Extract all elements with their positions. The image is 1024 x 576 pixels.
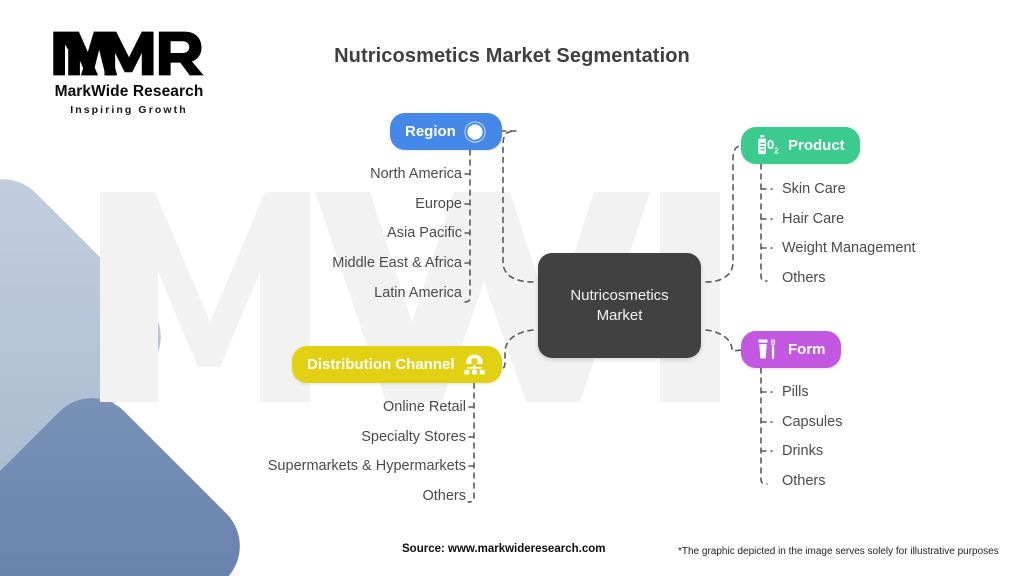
svg-text:0: 0 bbox=[767, 137, 774, 152]
disclaimer-text: *The graphic depicted in the image serve… bbox=[678, 546, 999, 557]
leaf-region-north-america[interactable]: North America bbox=[210, 167, 462, 182]
source-label[interactable]: Source: www.markwideresearch.com bbox=[402, 543, 605, 555]
leaf-region-europe[interactable]: Europe bbox=[210, 197, 462, 212]
branch-node-product[interactable]: 0 2 Product bbox=[741, 127, 860, 164]
leaf-distribution-specialty-stores[interactable]: Specialty Stores bbox=[180, 430, 466, 445]
branch-label-product: Product bbox=[788, 137, 845, 154]
branch-label-region: Region bbox=[405, 123, 456, 140]
leaf-product-skin-care[interactable]: Skin Care bbox=[782, 182, 846, 197]
leaf-distribution-others[interactable]: Others bbox=[180, 489, 466, 504]
branch-node-form[interactable]: Form bbox=[741, 331, 841, 368]
leaf-form-pills[interactable]: Pills bbox=[782, 385, 809, 400]
branch-node-distribution-channel[interactable]: Distribution Channel bbox=[292, 346, 502, 383]
center-node-nutricosmetics-market[interactable]: Nutricosmetics Market bbox=[538, 253, 701, 358]
center-node-line2: Market bbox=[570, 306, 668, 326]
tube-and-brush-icon bbox=[756, 337, 781, 362]
leaf-form-capsules[interactable]: Capsules bbox=[782, 415, 842, 430]
globe-icon bbox=[463, 120, 487, 144]
branch-label-form: Form bbox=[788, 341, 826, 358]
leaf-product-hair-care[interactable]: Hair Care bbox=[782, 212, 844, 227]
brand-name: MarkWide Research bbox=[34, 83, 224, 101]
leaf-region-asia-pacific[interactable]: Asia Pacific bbox=[210, 226, 462, 241]
leaf-region-middle-east-africa[interactable]: Middle East & Africa bbox=[210, 256, 462, 271]
distribution-network-icon bbox=[462, 352, 487, 377]
brand-logo: MarkWide Research Inspiring Growth bbox=[34, 24, 224, 116]
leaf-product-weight-management[interactable]: Weight Management bbox=[782, 241, 916, 256]
leaf-region-latin-america[interactable]: Latin America bbox=[210, 286, 462, 301]
leaf-distribution-online-retail[interactable]: Online Retail bbox=[180, 400, 466, 415]
page-title: Nutricosmetics Market Segmentation bbox=[0, 45, 1024, 68]
leaf-form-drinks[interactable]: Drinks bbox=[782, 444, 823, 459]
brand-tagline: Inspiring Growth bbox=[34, 104, 224, 116]
svg-text:2: 2 bbox=[774, 146, 779, 155]
leaf-form-others[interactable]: Others bbox=[782, 474, 826, 489]
center-node-line1: Nutricosmetics bbox=[570, 286, 668, 306]
leaf-product-others[interactable]: Others bbox=[782, 271, 826, 286]
branch-node-region[interactable]: Region bbox=[390, 113, 502, 150]
supplement-bottle-o2-icon: 0 2 bbox=[756, 133, 781, 158]
leaf-distribution-supermarkets-hypermarkets[interactable]: Supermarkets & Hypermarkets bbox=[180, 459, 466, 474]
branch-label-distribution-channel: Distribution Channel bbox=[307, 356, 455, 373]
